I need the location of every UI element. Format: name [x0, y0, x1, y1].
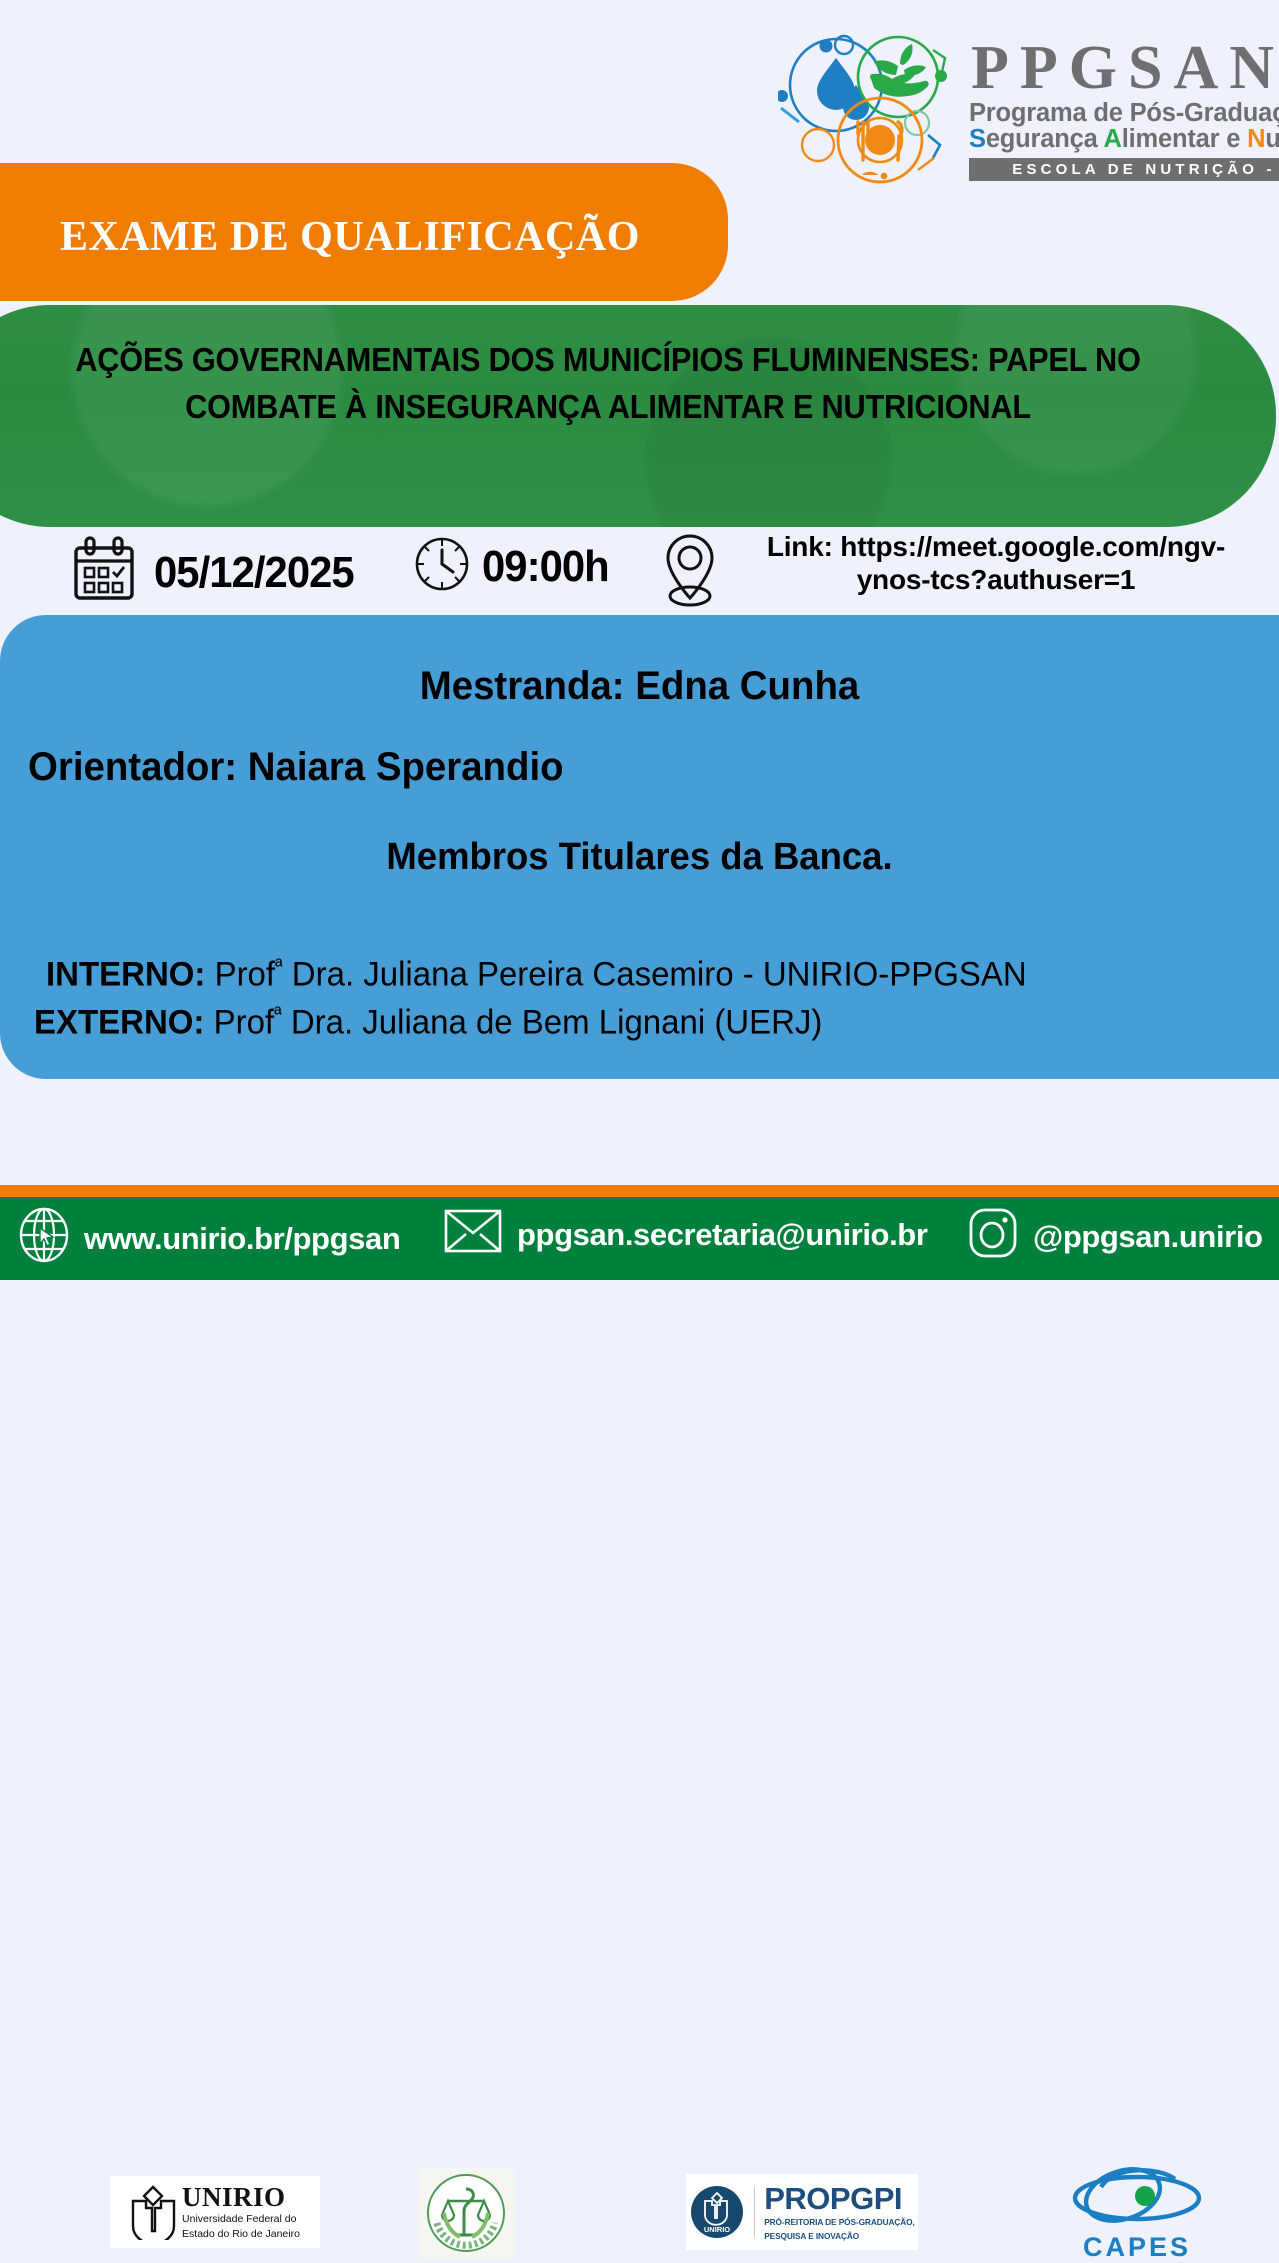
capes-name: CAPES	[1063, 2232, 1211, 2263]
escola-nutricao-seal-icon	[424, 2171, 508, 2255]
event-date: 05/12/2025	[154, 548, 354, 598]
envelope-icon	[443, 1206, 503, 1264]
footer-instagram-group[interactable]: @ppgsan.unirio	[967, 1206, 1263, 1268]
logo-icon-cluster	[778, 30, 963, 190]
external-member-line: EXTERNO: Profª Dra. Juliana de Bem Ligna…	[34, 1003, 822, 1042]
footer-email-group[interactable]: ppgsan.secretaria@unirio.br	[443, 1206, 928, 1264]
propgpi-unirio-badge-icon: UNIRIO	[689, 2184, 745, 2240]
ppgsan-subtitle-line1: Programa de Pós-Graduação em	[969, 100, 1279, 127]
footer-instagram[interactable]: @ppgsan.unirio	[1033, 1219, 1263, 1255]
capes-logo: CAPES	[1062, 2168, 1212, 2260]
propgpi-logo: UNIRIO PROPGPI PRÓ-REITORIA DE PÓS-GRADU…	[686, 2174, 918, 2250]
external-member-prefix-sup: ª	[274, 1003, 282, 1026]
calendar-icon	[68, 534, 140, 611]
advisor-line: Orientador: Naiara Sperandio	[28, 745, 564, 790]
exam-banner-label: EXAME DE QUALIFICAÇÃO	[60, 213, 640, 261]
internal-member-prefix-sup: ª	[275, 955, 283, 978]
external-member-name: Dra. Juliana de Bem Lignani (UERJ)	[291, 1003, 823, 1041]
alimentar-rest: limentar e	[1122, 125, 1247, 153]
ppgsan-logo-icons	[778, 30, 963, 190]
student-line: Mestranda: Edna Cunha	[26, 664, 1254, 709]
thesis-title: AÇÕES GOVERNAMENTAIS DOS MUNICÍPIOS FLUM…	[43, 337, 1174, 431]
instagram-icon	[967, 1206, 1019, 1268]
thesis-title-banner: AÇÕES GOVERNAMENTAIS DOS MUNICÍPIOS FLUM…	[0, 305, 1276, 527]
external-member-prefix: Prof	[214, 1003, 274, 1041]
seguranca-rest: egurança	[986, 125, 1104, 153]
internal-member-label: INTERNO:	[46, 955, 205, 993]
ppgsan-wordmark: PPGSAN	[971, 39, 1279, 98]
event-link-text[interactable]: Link: https://meet.google.com/ngv-ynos-t…	[737, 530, 1255, 596]
event-link-group[interactable]: Link: https://meet.google.com/ngv-ynos-t…	[655, 530, 1255, 617]
internal-member-prefix: Prof	[215, 955, 275, 993]
nutricional-rest: utricional	[1265, 125, 1279, 153]
exam-banner: EXAME DE QUALIFICAÇÃO	[0, 163, 728, 301]
footer-website[interactable]: www.unirio.br/ppgsan	[84, 1221, 400, 1257]
unirio-logo: UNIRIO Universidade Federal do Estado do…	[110, 2176, 320, 2248]
ppgsan-logo: PPGSAN Programa de Pós-Graduação em Segu…	[778, 30, 1268, 190]
unirio-sub-line2: Estado do Rio de Janeiro	[182, 2228, 300, 2240]
ppgsan-subtitle-line2: Segurança Alimentar e Nutricional	[969, 126, 1279, 153]
capes-swirl-icon	[1063, 2165, 1211, 2227]
nutricional-n: N	[1247, 125, 1265, 153]
internal-member-line: INTERNO: Profª Dra. Juliana Pereira Case…	[46, 955, 1027, 994]
ppgsan-logo-text: PPGSAN Programa de Pós-Graduação em Segu…	[963, 39, 1279, 181]
propgpi-name: PROPGPI	[764, 2183, 915, 2214]
clock-icon	[412, 534, 472, 599]
location-pin-icon	[655, 530, 725, 617]
footer-email[interactable]: ppgsan.secretaria@unirio.br	[517, 1217, 928, 1253]
alimentar-a: A	[1104, 125, 1122, 153]
propgpi-sub-line1: PRÓ-REITORIA DE PÓS-GRADUAÇÃO,	[764, 2217, 915, 2227]
people-panel: Mestranda: Edna Cunha Orientador: Naiara…	[0, 615, 1279, 1079]
footer-accent-bar	[0, 1185, 1279, 1197]
event-date-group: 05/12/2025	[68, 534, 364, 611]
partner-logos-strip: UNIRIO Universidade Federal do Estado do…	[0, 1082, 1279, 1182]
event-time: 09:00h	[482, 542, 609, 592]
unirio-name: UNIRIO	[182, 2184, 300, 2211]
propgpi-sub-line2: PESQUISA E INOVAÇÃO	[764, 2231, 915, 2241]
poster-canvas: PPGSAN Programa de Pós-Graduação em Segu…	[0, 0, 1279, 1280]
ppgsan-school-strip: ESCOLA DE NUTRIÇÃO - UNIRIO	[969, 158, 1279, 181]
event-time-group: 09:00h	[412, 534, 615, 599]
internal-member-name: Dra. Juliana Pereira Casemiro - UNIRIO-P…	[292, 955, 1027, 993]
board-heading: Membros Titulares da Banca.	[26, 836, 1254, 879]
globe-icon	[18, 1206, 70, 1272]
unirio-crest-icon	[130, 2184, 176, 2240]
seguranca-s: S	[969, 125, 986, 153]
external-member-label: EXTERNO:	[34, 1003, 204, 1041]
footer-website-group[interactable]: www.unirio.br/ppgsan	[18, 1206, 400, 1272]
escola-nutricao-seal	[418, 2168, 514, 2258]
event-info-row: 05/12/2025 09:00h	[0, 528, 1279, 620]
propgpi-badge-label: UNIRIO	[704, 2225, 730, 2234]
unirio-sub-line1: Universidade Federal do	[182, 2213, 300, 2225]
